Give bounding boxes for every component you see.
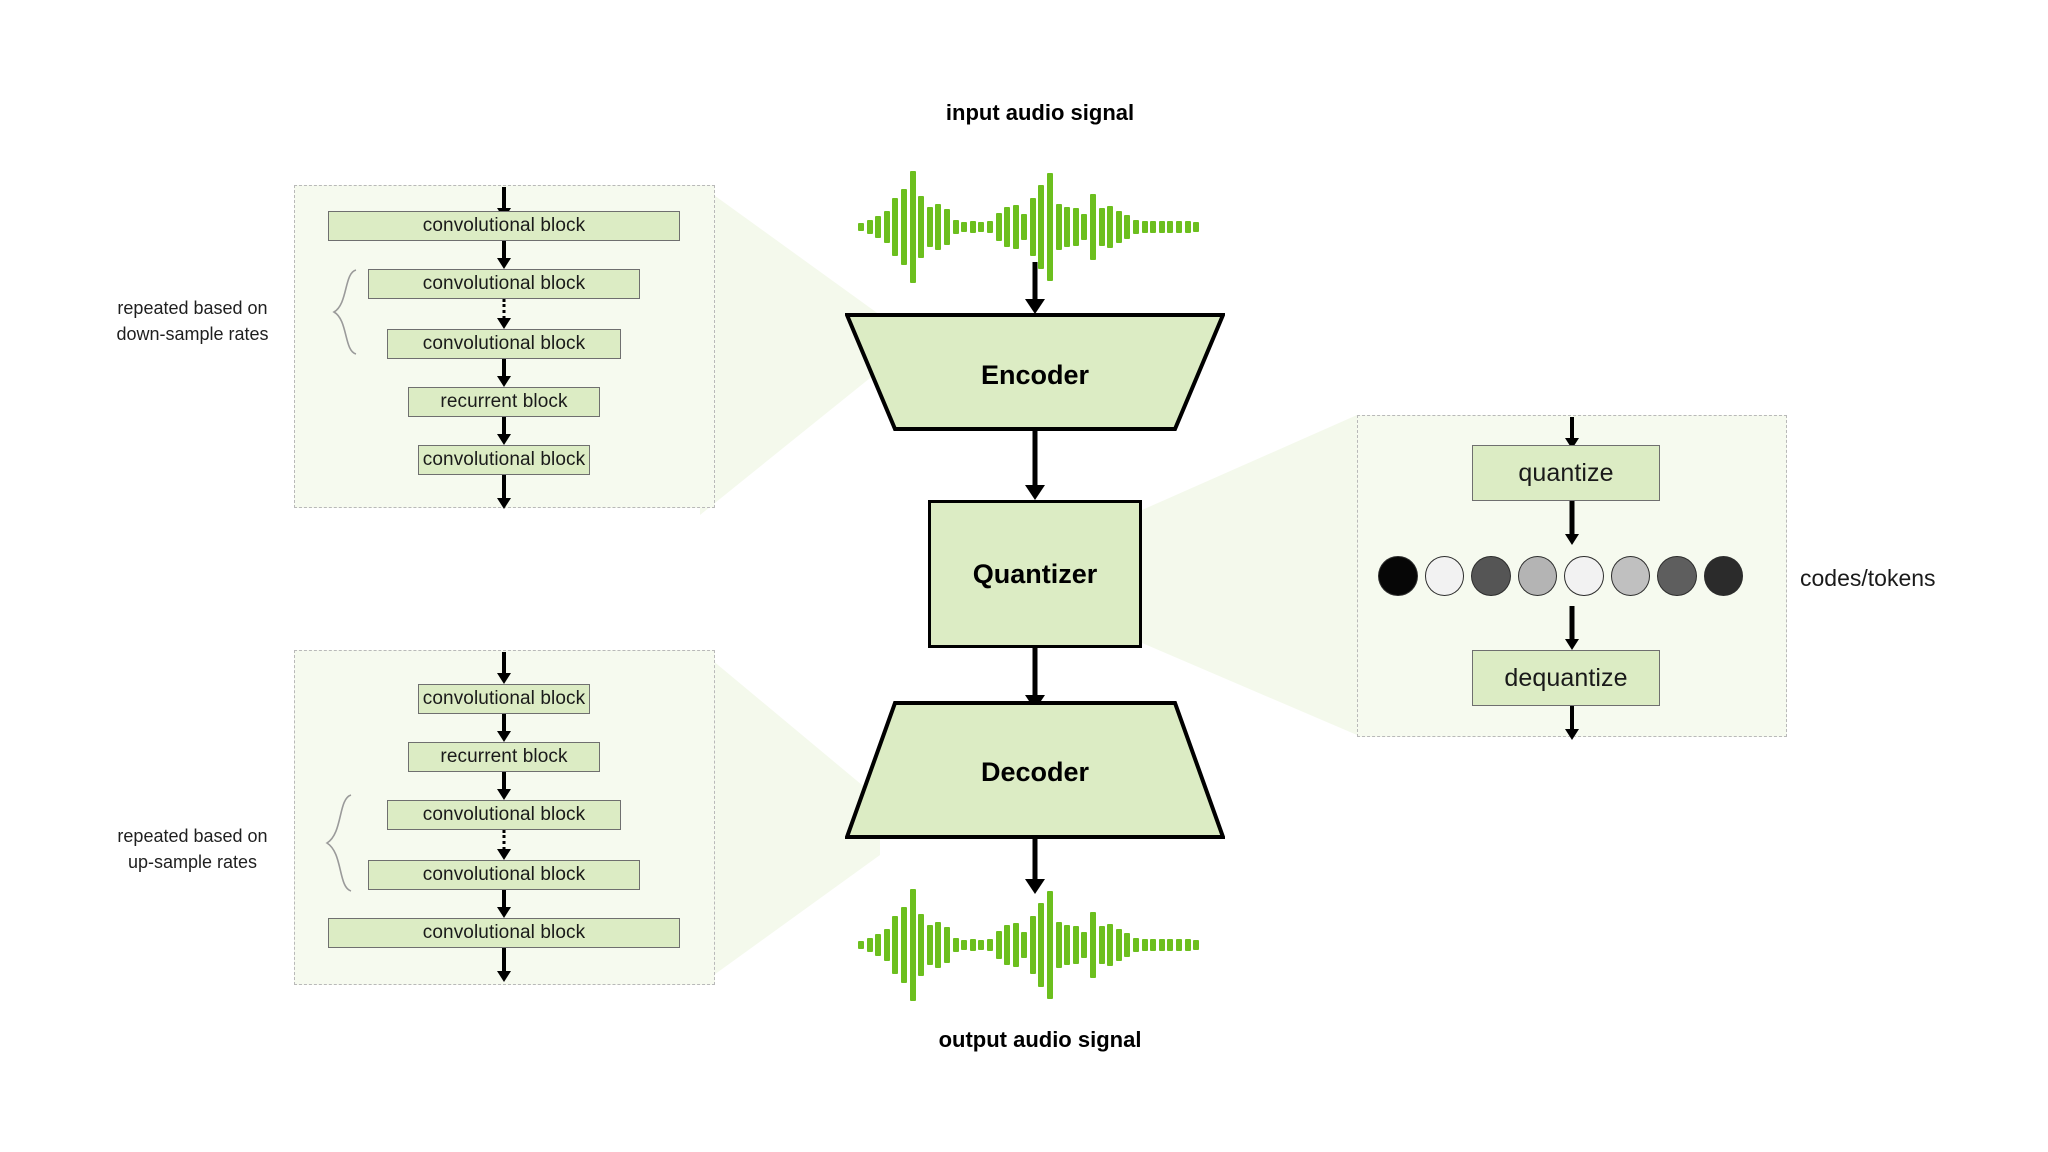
waveform-bar — [1090, 912, 1096, 978]
waveform-bar — [1064, 207, 1070, 247]
waveform-bar — [875, 934, 881, 956]
waveform-bar — [927, 925, 933, 965]
waveform-bar — [1133, 938, 1139, 952]
waveform-bar — [987, 939, 993, 951]
decoder-block-1[interactable]: convolutional block — [418, 684, 590, 714]
code-token-circle — [1425, 556, 1465, 596]
arrow-dec-in — [496, 652, 512, 684]
encoder-block-1[interactable]: convolutional block — [328, 211, 680, 241]
waveform-bar — [892, 198, 898, 256]
arrow-dec-3-4-dotted — [496, 830, 512, 860]
waveform-bar — [1099, 208, 1105, 246]
encoder-caption-line-1: repeated based on — [95, 295, 290, 321]
waveform-bar — [1176, 939, 1182, 951]
waveform-bar — [1030, 198, 1036, 256]
decoder-block-4[interactable]: convolutional block — [368, 860, 640, 890]
waveform-bar — [970, 939, 976, 951]
waveform-bar — [1047, 891, 1053, 999]
arrow-encoder-to-quantizer — [1025, 430, 1045, 500]
waveform-bar — [944, 209, 950, 245]
waveform-bar — [892, 916, 898, 974]
waveform-bar — [1150, 939, 1156, 951]
waveform-bar — [1004, 925, 1010, 965]
encoder-block-3[interactable]: convolutional block — [387, 329, 621, 359]
decoder-block-3[interactable]: convolutional block — [387, 800, 621, 830]
decoder-detail-caption: repeated based on up-sample rates — [95, 823, 290, 875]
arrow-decoder-to-output — [1025, 838, 1045, 894]
encoder-label: Encoder — [845, 360, 1225, 391]
waveform-bar — [1090, 194, 1096, 260]
waveform-bar — [1124, 933, 1130, 957]
waveform-bar — [1167, 939, 1173, 951]
arrow-dec-4-5 — [496, 890, 512, 918]
decoder-caption-line-1: repeated based on — [95, 823, 290, 849]
waveform-bar — [1081, 214, 1087, 240]
waveform-bar — [1116, 211, 1122, 243]
waveform-bar — [953, 938, 959, 952]
waveform-bar — [944, 927, 950, 963]
waveform-bar — [935, 922, 941, 968]
waveform-bar — [935, 204, 941, 250]
encoder-block-2[interactable]: convolutional block — [368, 269, 640, 299]
quantizer-node[interactable]: Quantizer — [928, 500, 1142, 648]
waveform-bar — [1081, 932, 1087, 958]
encoder-detail-caption: repeated based on down-sample rates — [95, 295, 290, 347]
waveform-bar — [918, 196, 924, 258]
waveform-bar — [1047, 173, 1053, 281]
waveform-bar — [875, 216, 881, 238]
waveform-bar — [1193, 222, 1199, 232]
code-token-circle — [1657, 556, 1697, 596]
decoder-caption-line-2: up-sample rates — [95, 849, 290, 875]
waveform-bar — [953, 220, 959, 234]
decoder-repeat-brace — [323, 793, 355, 893]
encoder-repeat-brace — [330, 268, 360, 356]
waveform-bar — [1056, 922, 1062, 968]
quantize-block[interactable]: quantize — [1472, 445, 1660, 501]
waveform-bar — [1013, 205, 1019, 249]
arrow-enc-out — [496, 475, 512, 509]
waveform-bar — [1185, 939, 1191, 951]
decoder-block-2[interactable]: recurrent block — [408, 742, 600, 772]
waveform-bar — [927, 207, 933, 247]
code-token-circle — [1704, 556, 1744, 596]
code-token-circles — [1378, 552, 1750, 600]
waveform-bar — [987, 221, 993, 233]
waveform-bar — [1124, 215, 1130, 239]
arrow-q-to-codes — [1564, 501, 1580, 545]
waveform-bar — [901, 189, 907, 265]
code-token-circle — [1611, 556, 1651, 596]
waveform-bar — [1150, 221, 1156, 233]
waveform-bar — [1004, 207, 1010, 247]
waveform-bar — [1142, 939, 1148, 951]
arrow-enc-4-5 — [496, 417, 512, 445]
encoder-node[interactable]: Encoder — [845, 312, 1225, 432]
waveform-bar — [867, 938, 873, 952]
waveform-bar — [910, 171, 916, 283]
code-token-circle — [1471, 556, 1511, 596]
waveform-bar — [1107, 924, 1113, 966]
waveform-bar — [1159, 939, 1165, 951]
decoder-block-5[interactable]: convolutional block — [328, 918, 680, 948]
waveform-bar — [1056, 204, 1062, 250]
diagram-canvas: input audio signal Encoder Quantizer Dec… — [0, 0, 2048, 1152]
code-token-circle — [1564, 556, 1604, 596]
encoder-block-4[interactable]: recurrent block — [408, 387, 600, 417]
waveform-bar — [858, 941, 864, 949]
decoder-label: Decoder — [845, 757, 1225, 788]
waveform-bar — [961, 222, 967, 232]
waveform-bar — [901, 907, 907, 983]
waveform-bar — [1159, 221, 1165, 233]
waveform-bar — [910, 889, 916, 1001]
decoder-node[interactable]: Decoder — [845, 700, 1225, 840]
waveform-bar — [858, 223, 864, 231]
waveform-bar — [1021, 932, 1027, 958]
waveform-bar — [1099, 926, 1105, 964]
arrow-q-out — [1564, 706, 1580, 740]
waveform-bar — [1021, 214, 1027, 240]
waveform-bar — [978, 222, 984, 232]
arrow-enc-3-4 — [496, 359, 512, 387]
arrow-dec-2-3 — [496, 772, 512, 800]
arrow-enc-2-3-dotted — [496, 299, 512, 329]
waveform-bar — [1073, 926, 1079, 964]
waveform-bar — [918, 914, 924, 976]
arrow-enc-1-2 — [496, 241, 512, 269]
waveform-bar — [996, 931, 1002, 959]
codes-tokens-label: codes/tokens — [1800, 565, 1936, 592]
waveform-bar — [961, 940, 967, 950]
waveform-bar — [1176, 221, 1182, 233]
waveform-bar — [1073, 208, 1079, 246]
waveform-bar — [996, 213, 1002, 241]
output-audio-label: output audio signal — [830, 1027, 1250, 1053]
waveform-bar — [978, 940, 984, 950]
output-waveform — [858, 900, 1208, 990]
arrow-input-to-encoder — [1025, 262, 1045, 314]
waveform-bar — [867, 220, 873, 234]
encoder-caption-line-2: down-sample rates — [95, 321, 290, 347]
input-audio-label: input audio signal — [830, 100, 1250, 126]
waveform-bar — [1038, 903, 1044, 987]
waveform-bar — [1185, 221, 1191, 233]
waveform-bar — [1038, 185, 1044, 269]
waveform-bar — [1013, 923, 1019, 967]
waveform-bar — [1142, 221, 1148, 233]
waveform-bar — [1030, 916, 1036, 974]
waveform-bar — [1133, 220, 1139, 234]
quantizer-zoom-wedge — [1142, 415, 1357, 735]
waveform-bar — [884, 211, 890, 243]
encoder-block-5[interactable]: convolutional block — [418, 445, 590, 475]
waveform-bar — [1064, 925, 1070, 965]
arrow-codes-to-deq — [1564, 606, 1580, 650]
waveform-bar — [884, 929, 890, 961]
dequantize-block[interactable]: dequantize — [1472, 650, 1660, 706]
waveform-bar — [1167, 221, 1173, 233]
code-token-circle — [1378, 556, 1418, 596]
arrow-dec-1-2 — [496, 714, 512, 742]
arrow-dec-out — [496, 948, 512, 982]
waveform-bar — [970, 221, 976, 233]
code-token-circle — [1518, 556, 1558, 596]
input-waveform — [858, 182, 1208, 272]
waveform-bar — [1116, 929, 1122, 961]
waveform-bar — [1193, 940, 1199, 950]
waveform-bar — [1107, 206, 1113, 248]
